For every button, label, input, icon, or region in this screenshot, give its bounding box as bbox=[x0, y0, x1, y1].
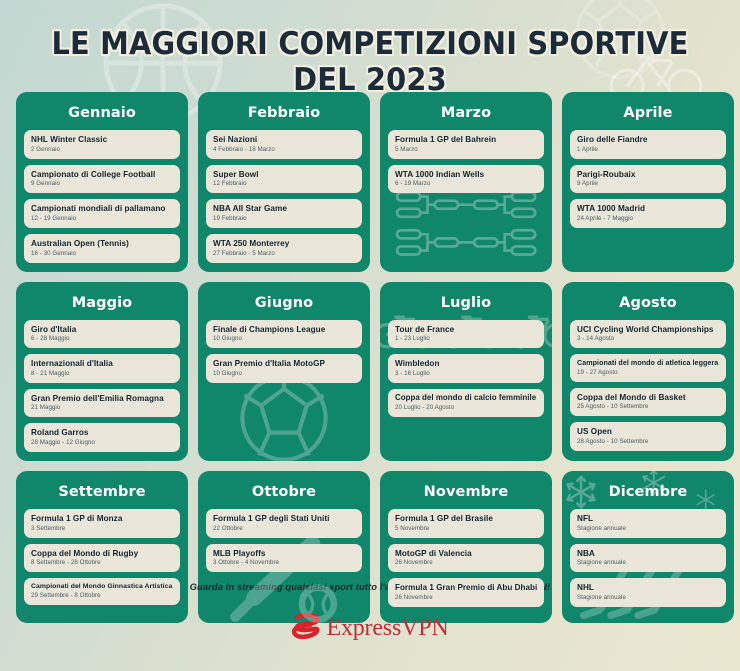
months-grid: Gennaio NHL Winter Classic 2 Gennaio Cam… bbox=[16, 92, 724, 623]
event-date: Stagione annuale bbox=[577, 560, 719, 567]
event-list: UCI Cycling World Championships 3 - 14 A… bbox=[570, 320, 726, 451]
event-item[interactable]: Formula 1 GP del Bahrein 5 Marzo bbox=[388, 130, 544, 159]
event-name: Coppa del Mondo di Basket bbox=[577, 393, 719, 402]
event-item[interactable]: MotoGP di Valencia 26 Novembre bbox=[388, 544, 544, 573]
event-date: 3 Ottobre - 4 Novembre bbox=[213, 560, 355, 567]
event-date: 28 Agosto - 10 Settembre bbox=[577, 439, 719, 446]
event-item[interactable]: Formula 1 Gran Premio di Abu Dhabi 26 No… bbox=[388, 578, 544, 606]
month-card-luglio: Luglio Tour de France 1 - 23 Luglio Wimb… bbox=[380, 282, 552, 462]
event-list: Giro delle Fiandre 1 Aprile Parigi-Rouba… bbox=[570, 130, 726, 228]
event-item[interactable]: Giro delle Fiandre 1 Aprile bbox=[570, 130, 726, 159]
event-date: 9 Gennaio bbox=[31, 181, 173, 188]
event-date: 27 Febbraio - 5 Marzo bbox=[213, 251, 355, 258]
event-date: Stagione annuale bbox=[577, 595, 719, 602]
event-date: 3 - 16 Luglio bbox=[395, 371, 537, 378]
event-item[interactable]: Parigi-Roubaix 9 Aprile bbox=[570, 165, 726, 194]
event-list: Giro d'Italia 6 - 28 Maggio Internaziona… bbox=[24, 320, 180, 453]
event-name: NBA bbox=[577, 549, 719, 558]
event-date: 26 Novembre bbox=[395, 595, 537, 602]
event-item[interactable]: Formula 1 GP di Monza 3 Settembre bbox=[24, 509, 180, 538]
month-card-novembre: Novembre Formula 1 GP del Brasile 5 Nove… bbox=[380, 471, 552, 623]
event-item[interactable]: Roland Garros 28 Maggio - 12 Giugno bbox=[24, 423, 180, 452]
event-list: Formula 1 GP di Monza 3 Settembre Coppa … bbox=[24, 509, 180, 605]
event-list: Sei Nazioni 4 Febbraio - 18 Marzo Super … bbox=[206, 130, 362, 263]
event-date: 8 Settembre - 28 Ottobre bbox=[31, 560, 173, 567]
month-card-gennaio: Gennaio NHL Winter Classic 2 Gennaio Cam… bbox=[16, 92, 188, 272]
event-date: 29 Settembre - 8 Ottobre bbox=[31, 593, 173, 600]
event-item[interactable]: Campionato di College Football 9 Gennaio bbox=[24, 165, 180, 194]
expressvpn-wordmark: ExpressVPN bbox=[327, 615, 449, 642]
month-title: Settembre bbox=[24, 479, 180, 509]
event-list: Formula 1 GP del Bahrein 5 Marzo WTA 100… bbox=[388, 130, 544, 193]
event-name: Gran Premio d'Italia MotoGP bbox=[213, 359, 355, 368]
event-item[interactable]: Gran Premio dell'Emilia Romagna 21 Maggi… bbox=[24, 389, 180, 418]
infographic-page: LE MAGGIORI COMPETIZIONI SPORTIVE DEL 20… bbox=[0, 0, 740, 671]
event-name: Formula 1 GP di Monza bbox=[31, 514, 173, 523]
event-date: 22 Ottobre bbox=[213, 526, 355, 533]
expressvpn-mark-icon bbox=[292, 613, 320, 644]
event-name: WTA 1000 Indian Wells bbox=[395, 170, 537, 179]
expressvpn-logo[interactable]: ExpressVPN bbox=[0, 613, 740, 644]
event-list: NFL Stagione annuale NBA Stagione annual… bbox=[570, 509, 726, 607]
event-name: Coppa del mondo di calcio femminile bbox=[395, 394, 537, 403]
tournament-bracket-art-icon bbox=[394, 189, 540, 264]
month-card-maggio: Maggio Giro d'Italia 6 - 28 Maggio Inter… bbox=[16, 282, 188, 462]
event-item[interactable]: Campionati del Mondo Ginnastica Artistic… bbox=[24, 578, 180, 605]
event-item[interactable]: Campionati del mondo di atletica leggera… bbox=[570, 354, 726, 381]
event-item[interactable]: Sei Nazioni 4 Febbraio - 18 Marzo bbox=[206, 130, 362, 159]
month-title: Marzo bbox=[388, 100, 544, 130]
event-list: Formula 1 GP del Brasile 5 Novembre Moto… bbox=[388, 509, 544, 607]
month-card-dicembre: Dicembre NFL Stagione annuale NBA Stagio… bbox=[562, 471, 734, 623]
event-date: 6 - 19 Marzo bbox=[395, 181, 537, 188]
event-date: 12 - 19 Gennaio bbox=[31, 216, 173, 223]
event-item[interactable]: NHL Winter Classic 2 Gennaio bbox=[24, 130, 180, 159]
event-item[interactable]: Formula 1 GP del Brasile 5 Novembre bbox=[388, 509, 544, 538]
event-item[interactable]: Super Bowl 12 Febbraio bbox=[206, 165, 362, 194]
page-title: LE MAGGIORI COMPETIZIONI SPORTIVE DEL 20… bbox=[0, 26, 740, 98]
event-name: WTA 1000 Madrid bbox=[577, 204, 719, 213]
event-name: Giro delle Fiandre bbox=[577, 135, 719, 144]
event-name: Finale di Champions League bbox=[213, 325, 355, 334]
event-date: 5 Novembre bbox=[395, 526, 537, 533]
event-item[interactable]: Finale di Champions League 10 Giugno bbox=[206, 320, 362, 349]
month-card-marzo: Marzo Formula 1 GP del Bahrein 5 Marzo W… bbox=[380, 92, 552, 272]
event-date: 6 - 28 Maggio bbox=[31, 336, 173, 343]
event-name: Coppa del Mondo di Rugby bbox=[31, 549, 173, 558]
event-name: Wimbledon bbox=[395, 359, 537, 368]
event-name: MLB Playoffs bbox=[213, 549, 355, 558]
event-list: Finale di Champions League 10 Giugno Gra… bbox=[206, 320, 362, 383]
event-name: NHL bbox=[577, 583, 719, 592]
event-name: US Open bbox=[577, 427, 719, 436]
event-date: 19 - 27 Agosto bbox=[577, 370, 719, 377]
event-item[interactable]: US Open 28 Agosto - 10 Settembre bbox=[570, 422, 726, 451]
event-name: Sei Nazioni bbox=[213, 135, 355, 144]
event-date: 20 Luglio - 20 Agosto bbox=[395, 405, 537, 412]
event-name: Formula 1 GP del Brasile bbox=[395, 514, 537, 523]
event-name: Roland Garros bbox=[31, 428, 173, 437]
month-card-ottobre: Ottobre Formula 1 GP degli Stati Uniti 2… bbox=[198, 471, 370, 623]
event-date: 3 - 14 Agosto bbox=[577, 336, 719, 343]
event-name: Parigi-Roubaix bbox=[577, 170, 719, 179]
event-item[interactable]: Giro d'Italia 6 - 28 Maggio bbox=[24, 320, 180, 349]
event-name: Campionati del mondo di atletica leggera bbox=[577, 359, 719, 367]
event-date: 12 Febbraio bbox=[213, 181, 355, 188]
event-item[interactable]: Tour de France 1 - 23 Luglio bbox=[388, 320, 544, 349]
event-list: NHL Winter Classic 2 Gennaio Campionato … bbox=[24, 130, 180, 263]
event-date: 16 - 30 Gennaio bbox=[31, 251, 173, 258]
event-name: Giro d'Italia bbox=[31, 325, 173, 334]
event-item[interactable]: WTA 1000 Indian Wells 6 - 19 Marzo bbox=[388, 165, 544, 194]
month-card-settembre: Settembre Formula 1 GP di Monza 3 Settem… bbox=[16, 471, 188, 623]
event-item[interactable]: NHL Stagione annuale bbox=[570, 578, 726, 607]
event-date: 10 Giugno bbox=[213, 336, 355, 343]
event-item[interactable]: Coppa del Mondo di Rugby 8 Settembre - 2… bbox=[24, 544, 180, 573]
event-date: 2 Gennaio bbox=[31, 147, 173, 154]
month-card-aprile: Aprile Giro delle Fiandre 1 Aprile Parig… bbox=[562, 92, 734, 272]
month-title: Agosto bbox=[570, 290, 726, 320]
event-date: 8 - 21 Maggio bbox=[31, 371, 173, 378]
event-date: 19 Febbraio bbox=[213, 216, 355, 223]
event-date: 25 Agosto - 10 Settembre bbox=[577, 404, 719, 411]
event-name: NFL bbox=[577, 514, 719, 523]
event-date: 4 Febbraio - 18 Marzo bbox=[213, 147, 355, 154]
event-date: 24 Aprile - 7 Maggio bbox=[577, 216, 719, 223]
event-item[interactable]: Wimbledon 3 - 16 Luglio bbox=[388, 354, 544, 383]
event-item[interactable]: NBA All Star Game 19 Febbraio bbox=[206, 199, 362, 228]
event-date: Stagione annuale bbox=[577, 526, 719, 533]
event-name: Gran Premio dell'Emilia Romagna bbox=[31, 394, 173, 403]
event-item[interactable]: Coppa del Mondo di Basket 25 Agosto - 10… bbox=[570, 388, 726, 417]
event-item[interactable]: Formula 1 GP degli Stati Uniti 22 Ottobr… bbox=[206, 509, 362, 538]
event-item[interactable]: Gran Premio d'Italia MotoGP 10 Giugno bbox=[206, 354, 362, 383]
month-card-giugno: Giugno Finale di Champions League 10 Giu… bbox=[198, 282, 370, 462]
event-list: Tour de France 1 - 23 Luglio Wimbledon 3… bbox=[388, 320, 544, 418]
event-item[interactable]: UCI Cycling World Championships 3 - 14 A… bbox=[570, 320, 726, 349]
event-name: Australian Open (Tennis) bbox=[31, 239, 173, 248]
month-title: Maggio bbox=[24, 290, 180, 320]
event-name: Formula 1 GP degli Stati Uniti bbox=[213, 514, 355, 523]
event-name: Internazionali d'Italia bbox=[31, 359, 173, 368]
event-date: 3 Settembre bbox=[31, 526, 173, 533]
event-name: Formula 1 GP del Bahrein bbox=[395, 135, 537, 144]
month-card-febbraio: Febbraio Sei Nazioni 4 Febbraio - 18 Mar… bbox=[198, 92, 370, 272]
month-title: Febbraio bbox=[206, 100, 362, 130]
event-name: Campionato di College Football bbox=[31, 170, 173, 179]
event-name: Campionati mondiali di pallamano bbox=[31, 204, 173, 213]
event-date: 5 Marzo bbox=[395, 147, 537, 154]
page-title-text: LE MAGGIORI COMPETIZIONI SPORTIVE DEL 20… bbox=[26, 26, 714, 98]
event-name: NBA All Star Game bbox=[213, 204, 355, 213]
month-title: Luglio bbox=[388, 290, 544, 320]
event-item[interactable]: NBA Stagione annuale bbox=[570, 544, 726, 573]
event-name: MotoGP di Valencia bbox=[395, 549, 537, 558]
event-date: 26 Novembre bbox=[395, 560, 537, 567]
month-card-agosto: Agosto UCI Cycling World Championships 3… bbox=[562, 282, 734, 462]
event-date: 1 Aprile bbox=[577, 147, 719, 154]
event-list: Formula 1 GP degli Stati Uniti 22 Ottobr… bbox=[206, 509, 362, 572]
month-title: Ottobre bbox=[206, 479, 362, 509]
event-item[interactable]: MLB Playoffs 3 Ottobre - 4 Novembre bbox=[206, 544, 362, 573]
event-name: Formula 1 Gran Premio di Abu Dhabi bbox=[395, 583, 537, 592]
event-name: Super Bowl bbox=[213, 170, 355, 179]
month-title: Aprile bbox=[570, 100, 726, 130]
event-item[interactable]: Campionati mondiali di pallamano 12 - 19… bbox=[24, 199, 180, 228]
event-item[interactable]: NFL Stagione annuale bbox=[570, 509, 726, 538]
event-item[interactable]: Coppa del mondo di calcio femminile 20 L… bbox=[388, 389, 544, 417]
month-title: Gennaio bbox=[24, 100, 180, 130]
month-title: Dicembre bbox=[570, 479, 726, 509]
month-title: Giugno bbox=[206, 290, 362, 320]
event-date: 1 - 23 Luglio bbox=[395, 336, 537, 343]
event-item[interactable]: Australian Open (Tennis) 16 - 30 Gennaio bbox=[24, 234, 180, 263]
event-name: Tour de France bbox=[395, 325, 537, 334]
event-item[interactable]: WTA 250 Monterrey 27 Febbraio - 5 Marzo bbox=[206, 234, 362, 263]
event-date: 10 Giugno bbox=[213, 371, 355, 378]
event-name: NHL Winter Classic bbox=[31, 135, 173, 144]
event-name: WTA 250 Monterrey bbox=[213, 239, 355, 248]
event-date: 21 Maggio bbox=[31, 405, 173, 412]
event-item[interactable]: Internazionali d'Italia 8 - 21 Maggio bbox=[24, 354, 180, 383]
event-name: Campionati del Mondo Ginnastica Artistic… bbox=[31, 583, 173, 591]
event-name: UCI Cycling World Championships bbox=[577, 325, 719, 334]
month-title: Novembre bbox=[388, 479, 544, 509]
event-item[interactable]: WTA 1000 Madrid 24 Aprile - 7 Maggio bbox=[570, 199, 726, 228]
event-date: 9 Aprile bbox=[577, 181, 719, 188]
event-date: 28 Maggio - 12 Giugno bbox=[31, 440, 173, 447]
